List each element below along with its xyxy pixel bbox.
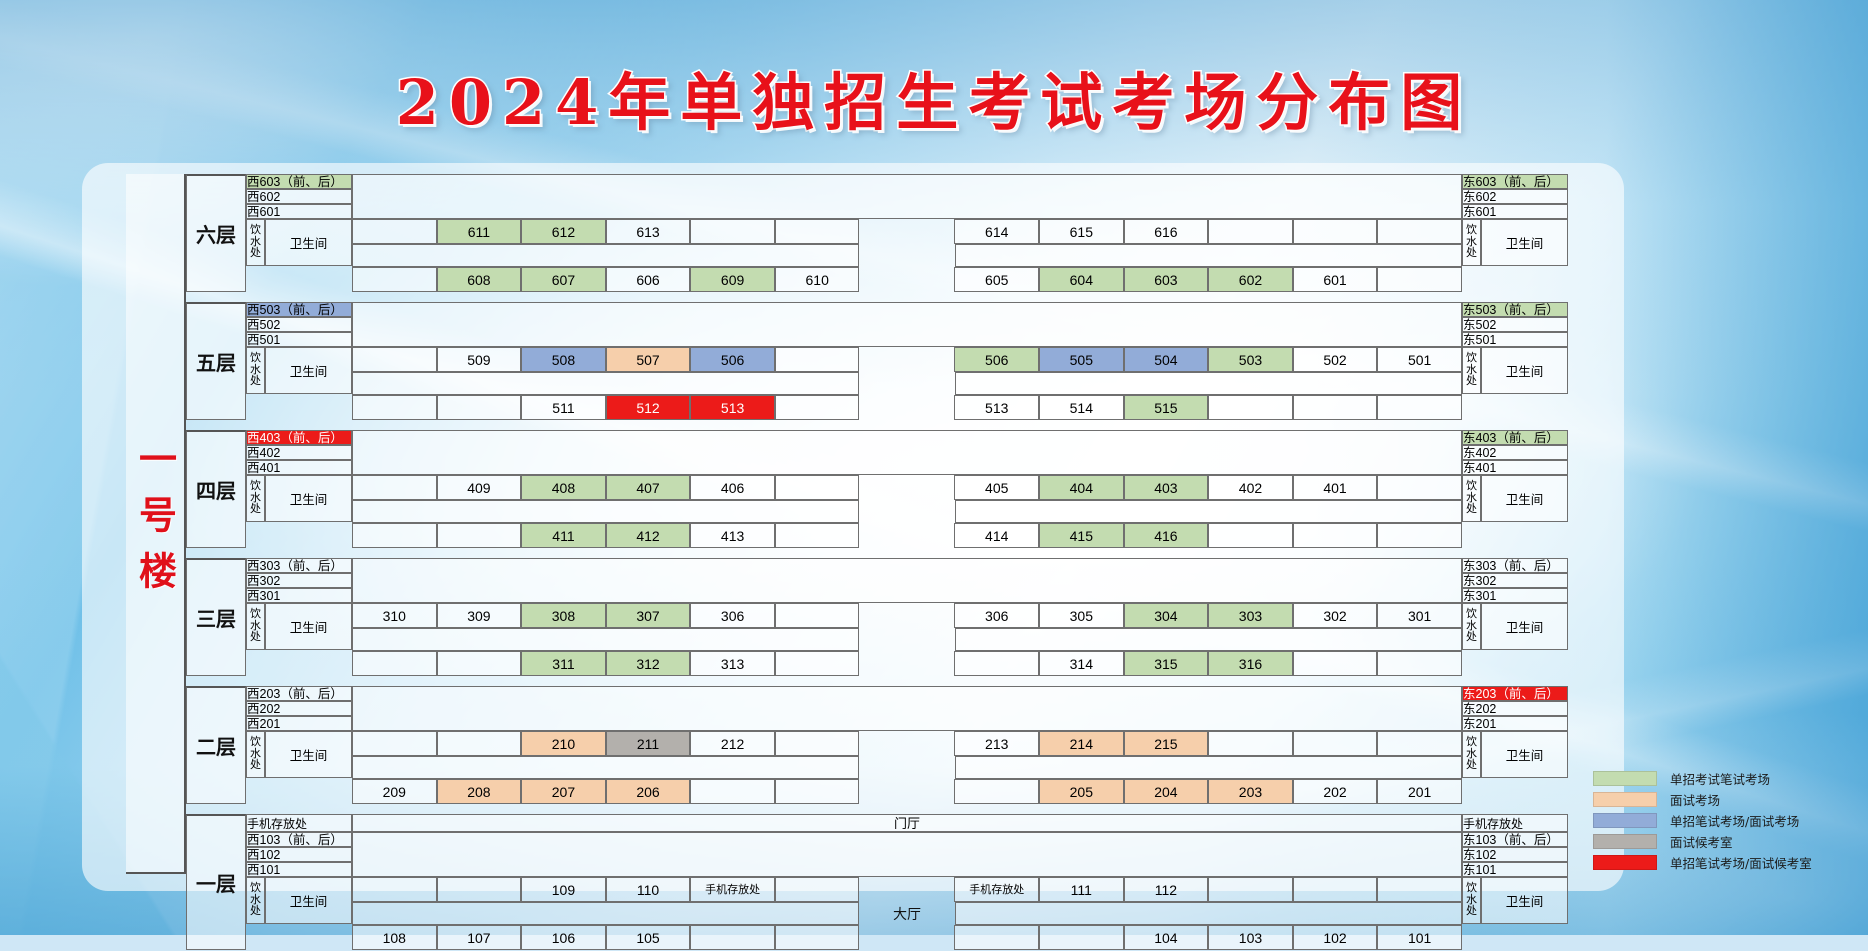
wing-west-floor-0: 西603（前、后）西602西601 饮水处 卫生间	[246, 174, 352, 292]
blank-band	[352, 832, 1462, 877]
floor-name-cell: 六层	[186, 174, 246, 292]
corridor-row-bottom: 608607606609610605604603602601	[352, 267, 1462, 292]
room-cell[interactable]: 401	[1293, 475, 1378, 500]
room-cell[interactable]: 211	[606, 731, 691, 756]
floor-name: 三层	[196, 603, 236, 632]
floor-name: 二层	[196, 731, 236, 760]
room-cell[interactable]: 214	[1039, 731, 1124, 756]
room-cell[interactable]: 314	[1039, 651, 1124, 676]
room-cell[interactable]: 111	[1039, 877, 1124, 902]
room-label-west[interactable]: 西101	[246, 862, 352, 877]
room-cell[interactable]	[1377, 877, 1462, 902]
room-cell[interactable]: 212	[690, 731, 775, 756]
room-cell[interactable]: 512	[606, 395, 691, 420]
restroom-east: 卫生间	[1481, 603, 1568, 650]
room-cell[interactable]: 607	[521, 267, 606, 292]
room-cell[interactable]	[1377, 475, 1462, 500]
room-cell[interactable]: 613	[606, 219, 691, 244]
room-cell[interactable]: 504	[1124, 347, 1209, 372]
room-label-east[interactable]: 东101	[1462, 862, 1568, 877]
corridor-row-bottom: 209208207206205204203202201	[352, 779, 1462, 804]
room-cell[interactable]: 612	[521, 219, 606, 244]
room-cell[interactable]: 415	[1039, 523, 1124, 548]
room-cell[interactable]: 411	[521, 523, 606, 548]
floor-plan-container: 六层 西603（前、后）西602西601 饮水处 卫生间 61161261361…	[186, 174, 1568, 950]
legend-label: 单招考试笔试考场	[1670, 769, 1770, 788]
stairwell-gap	[859, 475, 954, 500]
room-cell[interactable]	[1293, 523, 1378, 548]
floor-name: 四层	[196, 475, 236, 504]
wing-west-floor-5: 手机存放处西103（前、后）西102西101 饮水处 卫生间	[246, 814, 352, 950]
restroom-west: 卫生间	[265, 603, 352, 650]
room-cell[interactable]	[1293, 651, 1378, 676]
floor-name-cell: 四层	[186, 430, 246, 548]
room-cell[interactable]	[1377, 731, 1462, 756]
room-cell[interactable]	[775, 347, 860, 372]
room-cell[interactable]	[954, 925, 1039, 950]
corridor-row-bottom: 511512513513514515	[352, 395, 1462, 420]
room-cell[interactable]: 603	[1124, 267, 1209, 292]
room-label-west[interactable]: 西601	[246, 204, 352, 219]
room-cell[interactable]: 302	[1293, 603, 1378, 628]
room-cell[interactable]: 409	[437, 475, 522, 500]
room-cell[interactable]: 511	[521, 395, 606, 420]
room-cell[interactable]: 手机存放处	[954, 877, 1039, 902]
legend-row: 单招笔试考场/面试候考室	[1593, 852, 1853, 873]
room-cell[interactable]: 205	[1039, 779, 1124, 804]
wing-east-floor-5: 手机存放处东103（前、后）东102东101 饮水处 卫生间	[1462, 814, 1568, 950]
stairwell-gap	[859, 219, 954, 244]
room-cell[interactable]: 203	[1208, 779, 1293, 804]
restroom-west: 卫生间	[265, 475, 352, 522]
room-cell[interactable]	[437, 523, 522, 548]
legend-swatch	[1593, 813, 1657, 828]
room-cell[interactable]	[352, 523, 437, 548]
floor-separator	[186, 676, 1568, 686]
room-cell[interactable]: 108	[352, 925, 437, 950]
restroom-east: 卫生间	[1481, 475, 1568, 522]
room-cell[interactable]: 506	[954, 347, 1039, 372]
room-cell[interactable]: 508	[521, 347, 606, 372]
room-cell[interactable]: 306	[954, 603, 1039, 628]
stairwell-gap	[859, 523, 954, 548]
drinking-water-west: 饮水处	[246, 475, 265, 522]
phone-storage-label-west: 手机存放处	[246, 814, 352, 832]
room-cell[interactable]: 604	[1039, 267, 1124, 292]
room-cell[interactable]: 105	[606, 925, 691, 950]
stairwell-gap	[859, 877, 954, 902]
corridor-floor-3: 310309308307306306305304303302301 311312…	[352, 558, 1462, 676]
room-label-west[interactable]: 西501	[246, 332, 352, 347]
room-cell[interactable]: 103	[1208, 925, 1293, 950]
room-cell[interactable]: 513	[954, 395, 1039, 420]
room-label-east[interactable]: 东602	[1462, 189, 1568, 204]
drinking-water-east: 饮水处	[1462, 475, 1481, 522]
room-cell[interactable]: 502	[1293, 347, 1378, 372]
room-label-west[interactable]: 西502	[246, 317, 352, 332]
room-cell[interactable]: 手机存放处	[690, 877, 775, 902]
corridor-floor-2: 409408407406405404403402401 411412413414…	[352, 430, 1462, 548]
room-cell[interactable]: 601	[1293, 267, 1378, 292]
drinking-water-east: 饮水处	[1462, 347, 1481, 394]
legend-swatch	[1593, 855, 1657, 870]
room-cell[interactable]: 514	[1039, 395, 1124, 420]
drinking-water-west: 饮水处	[246, 877, 265, 924]
room-cell[interactable]: 609	[690, 267, 775, 292]
corridor-row-top: 409408407406405404403402401	[352, 475, 1462, 500]
room-label-west[interactable]: 西402	[246, 445, 352, 460]
room-cell[interactable]	[1293, 219, 1378, 244]
legend-swatch	[1593, 834, 1657, 849]
room-cell[interactable]	[775, 779, 860, 804]
stairwell-gap	[859, 651, 954, 676]
restroom-east: 卫生间	[1481, 877, 1568, 924]
room-cell[interactable]: 403	[1124, 475, 1209, 500]
room-cell[interactable]	[775, 925, 860, 950]
room-cell[interactable]	[690, 925, 775, 950]
corridor-row-top: 310309308307306306305304303302301	[352, 603, 1462, 628]
restroom-west: 卫生间	[265, 731, 352, 778]
legend-label: 面试候考室	[1670, 832, 1733, 851]
room-cell[interactable]	[775, 475, 860, 500]
room-cell[interactable]: 414	[954, 523, 1039, 548]
room-cell[interactable]	[437, 877, 522, 902]
room-cell[interactable]: 505	[1039, 347, 1124, 372]
room-label-east[interactable]: 东102	[1462, 847, 1568, 862]
legend-row: 面试考场	[1593, 789, 1853, 810]
room-cell[interactable]: 614	[954, 219, 1039, 244]
restroom-west: 卫生间	[265, 877, 352, 924]
room-cell[interactable]	[1293, 395, 1378, 420]
corridor-strip	[352, 500, 1462, 523]
room-cell[interactable]: 412	[606, 523, 691, 548]
corridor-strip	[352, 628, 1462, 651]
room-cell[interactable]: 101	[1377, 925, 1462, 950]
wing-east-floor-4: 东203（前、后）东202东201 饮水处 卫生间	[1462, 686, 1568, 804]
room-cell[interactable]	[1377, 267, 1462, 292]
room-cell[interactable]: 310	[352, 603, 437, 628]
room-cell[interactable]: 507	[606, 347, 691, 372]
room-cell[interactable]: 307	[606, 603, 691, 628]
room-cell[interactable]	[775, 603, 860, 628]
room-cell[interactable]	[352, 347, 437, 372]
room-cell[interactable]: 209	[352, 779, 437, 804]
room-cell[interactable]	[690, 779, 775, 804]
drinking-water-east: 饮水处	[1462, 731, 1481, 778]
room-cell[interactable]: 615	[1039, 219, 1124, 244]
room-cell[interactable]: 107	[437, 925, 522, 950]
drinking-water-east: 饮水处	[1462, 219, 1481, 266]
room-cell[interactable]	[775, 219, 860, 244]
room-cell[interactable]: 301	[1377, 603, 1462, 628]
room-cell[interactable]	[1377, 651, 1462, 676]
room-cell[interactable]: 602	[1208, 267, 1293, 292]
wing-west-floor-3: 西303（前、后）西302西301 饮水处 卫生间	[246, 558, 352, 676]
room-label-east[interactable]: 东202	[1462, 701, 1568, 716]
room-label-west[interactable]: 西602	[246, 189, 352, 204]
room-cell[interactable]: 311	[521, 651, 606, 676]
corridor-row-top: 611612613614615616	[352, 219, 1462, 244]
room-cell[interactable]: 110	[606, 877, 691, 902]
room-label-west[interactable]: 西301	[246, 588, 352, 603]
room-label-east[interactable]: 东203（前、后）	[1462, 686, 1568, 701]
drinking-water-east: 饮水处	[1462, 603, 1481, 650]
corridor-strip	[352, 244, 1462, 267]
main-hall-label: 大厅	[893, 904, 921, 924]
upper-blank-band	[352, 174, 1462, 219]
corridor-row-bottom: 311312313314315316	[352, 651, 1462, 676]
room-label-west[interactable]: 西401	[246, 460, 352, 475]
drinking-water-west: 饮水处	[246, 603, 265, 650]
room-cell[interactable]: 213	[954, 731, 1039, 756]
room-label-east[interactable]: 东402	[1462, 445, 1568, 460]
corridor-floor-5: 门厅 109110手机存放处手机存放处111112 大厅108107106105…	[352, 814, 1462, 950]
room-cell[interactable]: 106	[521, 925, 606, 950]
room-cell[interactable]: 503	[1208, 347, 1293, 372]
room-label-west[interactable]: 西102	[246, 847, 352, 862]
room-cell[interactable]: 413	[690, 523, 775, 548]
room-label-east[interactable]: 东401	[1462, 460, 1568, 475]
wing-west-floor-2: 西403（前、后）西402西401 饮水处 卫生间	[246, 430, 352, 548]
room-label-west[interactable]: 西503（前、后）	[246, 302, 352, 317]
room-cell[interactable]	[352, 219, 437, 244]
room-cell[interactable]: 207	[521, 779, 606, 804]
room-cell[interactable]: 513	[690, 395, 775, 420]
room-cell[interactable]	[1208, 219, 1293, 244]
legend-row: 面试候考室	[1593, 831, 1853, 852]
room-label-east[interactable]: 东502	[1462, 317, 1568, 332]
room-cell[interactable]: 610	[775, 267, 860, 292]
floor-separator	[186, 420, 1568, 430]
stairwell-gap	[859, 395, 954, 420]
room-cell[interactable]: 308	[521, 603, 606, 628]
room-cell[interactable]	[690, 219, 775, 244]
wing-west-floor-1: 西503（前、后）西502西501 饮水处 卫生间	[246, 302, 352, 420]
room-label-west[interactable]: 西202	[246, 701, 352, 716]
room-label-east[interactable]: 东302	[1462, 573, 1568, 588]
floor-name-cell: 一层	[186, 814, 246, 950]
floor-block: 六层 西603（前、后）西602西601 饮水处 卫生间 61161261361…	[186, 174, 1568, 292]
corridor-row-top: 109110手机存放处手机存放处111112	[352, 877, 1462, 902]
room-cell[interactable]: 515	[1124, 395, 1209, 420]
room-label-east[interactable]: 东103（前、后）	[1462, 832, 1568, 847]
room-cell[interactable]: 407	[606, 475, 691, 500]
legend-label: 单招笔试考场/面试候考室	[1670, 853, 1812, 872]
drinking-water-west: 饮水处	[246, 731, 265, 778]
main-hall-strip: 大厅	[352, 902, 1462, 925]
room-cell[interactable]: 304	[1124, 603, 1209, 628]
upper-blank-band	[352, 686, 1462, 731]
stairwell-gap	[859, 347, 954, 372]
room-cell[interactable]: 408	[521, 475, 606, 500]
room-cell[interactable]: 416	[1124, 523, 1209, 548]
floor-block: 四层 西403（前、后）西402西401 饮水处 卫生间 40940840740…	[186, 430, 1568, 548]
corridor-row-top: 210211212213214215	[352, 731, 1462, 756]
room-cell[interactable]: 404	[1039, 475, 1124, 500]
wing-east-floor-0: 东603（前、后）东602东601 饮水处 卫生间	[1462, 174, 1568, 292]
floor-name-cell: 三层	[186, 558, 246, 676]
corridor-row-bottom: 108107106105104103102101	[352, 925, 1462, 950]
room-cell[interactable]: 208	[437, 779, 522, 804]
legend-label: 面试考场	[1670, 790, 1720, 809]
corridor-floor-1: 509508507506506505504503502501 511512513…	[352, 302, 1462, 420]
room-cell[interactable]	[352, 475, 437, 500]
room-cell[interactable]	[1208, 731, 1293, 756]
legend-swatch	[1593, 771, 1657, 786]
room-cell[interactable]: 501	[1377, 347, 1462, 372]
upper-blank-band	[352, 430, 1462, 475]
room-cell[interactable]: 112	[1124, 877, 1209, 902]
room-cell[interactable]: 202	[1293, 779, 1378, 804]
room-cell[interactable]: 306	[690, 603, 775, 628]
floor-block: 三层 西303（前、后）西302西301 饮水处 卫生间 31030930830…	[186, 558, 1568, 676]
room-cell[interactable]: 313	[690, 651, 775, 676]
room-cell[interactable]: 406	[690, 475, 775, 500]
room-cell[interactable]	[954, 779, 1039, 804]
room-label-east[interactable]: 东501	[1462, 332, 1568, 347]
floor-block: 五层 西503（前、后）西502西501 饮水处 卫生间 50950850750…	[186, 302, 1568, 420]
page-title: 2024年单独招生考试考场分布图	[0, 52, 1868, 142]
wing-east-floor-2: 东403（前、后）东402东401 饮水处 卫生间	[1462, 430, 1568, 548]
room-cell[interactable]: 402	[1208, 475, 1293, 500]
room-label-east[interactable]: 东301	[1462, 588, 1568, 603]
room-cell[interactable]: 312	[606, 651, 691, 676]
legend-row: 单招考试笔试考场	[1593, 768, 1853, 789]
floor-name-cell: 五层	[186, 302, 246, 420]
room-cell[interactable]: 303	[1208, 603, 1293, 628]
room-cell[interactable]: 606	[606, 267, 691, 292]
stairwell-gap	[859, 603, 954, 628]
stairwell-gap	[859, 267, 954, 292]
room-label-west[interactable]: 西603（前、后）	[246, 174, 352, 189]
room-cell[interactable]	[775, 523, 860, 548]
floor-name-cell: 二层	[186, 686, 246, 804]
room-cell[interactable]: 315	[1124, 651, 1209, 676]
room-label-east[interactable]: 东303（前、后）	[1462, 558, 1568, 573]
room-cell[interactable]	[1377, 523, 1462, 548]
room-cell[interactable]	[954, 651, 1039, 676]
floor-separator	[186, 804, 1568, 814]
legend-row: 单招笔试考场/面试考场	[1593, 810, 1853, 831]
room-label-west[interactable]: 西303（前、后）	[246, 558, 352, 573]
room-cell[interactable]: 405	[954, 475, 1039, 500]
restroom-east: 卫生间	[1481, 219, 1568, 266]
room-label-east[interactable]: 东603（前、后）	[1462, 174, 1568, 189]
drinking-water-east: 饮水处	[1462, 877, 1481, 924]
room-cell[interactable]	[1039, 925, 1124, 950]
room-cell[interactable]: 210	[521, 731, 606, 756]
room-cell[interactable]: 102	[1293, 925, 1378, 950]
room-cell[interactable]	[352, 877, 437, 902]
room-cell[interactable]	[352, 395, 437, 420]
stairwell-gap	[859, 731, 954, 756]
room-cell[interactable]	[437, 651, 522, 676]
floor-separator	[186, 548, 1568, 558]
room-cell[interactable]	[1293, 731, 1378, 756]
room-cell[interactable]: 305	[1039, 603, 1124, 628]
room-cell[interactable]: 316	[1208, 651, 1293, 676]
floor-block: 一层 手机存放处西103（前、后）西102西101 饮水处 卫生间 门厅 109…	[186, 814, 1568, 950]
floor-name: 五层	[196, 347, 236, 376]
room-cell[interactable]	[352, 731, 437, 756]
room-cell[interactable]	[352, 651, 437, 676]
corridor-floor-4: 210211212213214215 209208207206205204203…	[352, 686, 1462, 804]
room-cell[interactable]	[775, 731, 860, 756]
corridor-strip	[352, 756, 1462, 779]
room-cell[interactable]	[1208, 877, 1293, 902]
room-label-west[interactable]: 西201	[246, 716, 352, 731]
room-cell[interactable]	[1377, 219, 1462, 244]
room-cell[interactable]: 509	[437, 347, 522, 372]
corridor-floor-0: 611612613614615616 608607606609610605604…	[352, 174, 1462, 292]
building-label: 一号楼	[128, 439, 183, 607]
corridor-row-bottom: 411412413414415416	[352, 523, 1462, 548]
room-cell[interactable]: 104	[1124, 925, 1209, 950]
room-cell[interactable]: 506	[690, 347, 775, 372]
room-cell[interactable]	[1293, 877, 1378, 902]
entrance-hall-row: 门厅	[352, 814, 1462, 832]
room-cell[interactable]: 206	[606, 779, 691, 804]
room-cell[interactable]: 201	[1377, 779, 1462, 804]
room-cell[interactable]: 109	[521, 877, 606, 902]
legend-swatch	[1593, 792, 1657, 807]
corridor-row-top: 509508507506506505504503502501	[352, 347, 1462, 372]
room-cell[interactable]	[775, 651, 860, 676]
room-label-west[interactable]: 西203（前、后）	[246, 686, 352, 701]
legend: 单招考试笔试考场 面试考场 单招笔试考场/面试考场 面试候考室 单招笔试考场/面…	[1593, 768, 1853, 873]
room-cell[interactable]	[1377, 395, 1462, 420]
room-cell[interactable]: 608	[437, 267, 522, 292]
floor-block: 二层 西203（前、后）西202西201 饮水处 卫生间 21021121221…	[186, 686, 1568, 804]
upper-blank-band	[352, 302, 1462, 347]
building-label-cell: 一号楼	[126, 174, 186, 874]
room-label-west[interactable]: 西103（前、后）	[246, 832, 352, 847]
room-cell[interactable]	[775, 395, 860, 420]
room-cell[interactable]: 605	[954, 267, 1039, 292]
room-cell[interactable]	[352, 267, 437, 292]
restroom-east: 卫生间	[1481, 347, 1568, 394]
room-cell[interactable]	[1208, 395, 1293, 420]
stairwell-gap	[859, 779, 954, 804]
entrance-hall-label: 门厅	[352, 814, 1462, 832]
room-cell[interactable]: 215	[1124, 731, 1209, 756]
wing-east-floor-3: 东303（前、后）东302东301 饮水处 卫生间	[1462, 558, 1568, 676]
room-label-east[interactable]: 东201	[1462, 716, 1568, 731]
room-label-west[interactable]: 西403（前、后）	[246, 430, 352, 445]
restroom-west: 卫生间	[265, 347, 352, 394]
restroom-west: 卫生间	[265, 219, 352, 266]
upper-blank-band	[352, 558, 1462, 603]
wing-east-floor-1: 东503（前、后）东502东501 饮水处 卫生间	[1462, 302, 1568, 420]
room-cell[interactable]	[437, 395, 522, 420]
floor-name: 六层	[196, 219, 236, 248]
room-label-east[interactable]: 东601	[1462, 204, 1568, 219]
room-cell[interactable]	[775, 877, 860, 902]
room-cell[interactable]	[437, 731, 522, 756]
drinking-water-west: 饮水处	[246, 219, 265, 266]
room-label-east[interactable]: 东503（前、后）	[1462, 302, 1568, 317]
room-cell[interactable]: 611	[437, 219, 522, 244]
room-label-east[interactable]: 东403（前、后）	[1462, 430, 1568, 445]
room-cell[interactable]: 204	[1124, 779, 1209, 804]
stairwell-gap	[859, 925, 954, 950]
room-cell[interactable]: 616	[1124, 219, 1209, 244]
room-label-west[interactable]: 西302	[246, 573, 352, 588]
room-cell[interactable]: 309	[437, 603, 522, 628]
wing-west-floor-4: 西203（前、后）西202西201 饮水处 卫生间	[246, 686, 352, 804]
legend-label: 单招笔试考场/面试考场	[1670, 811, 1799, 830]
room-cell[interactable]	[1208, 523, 1293, 548]
